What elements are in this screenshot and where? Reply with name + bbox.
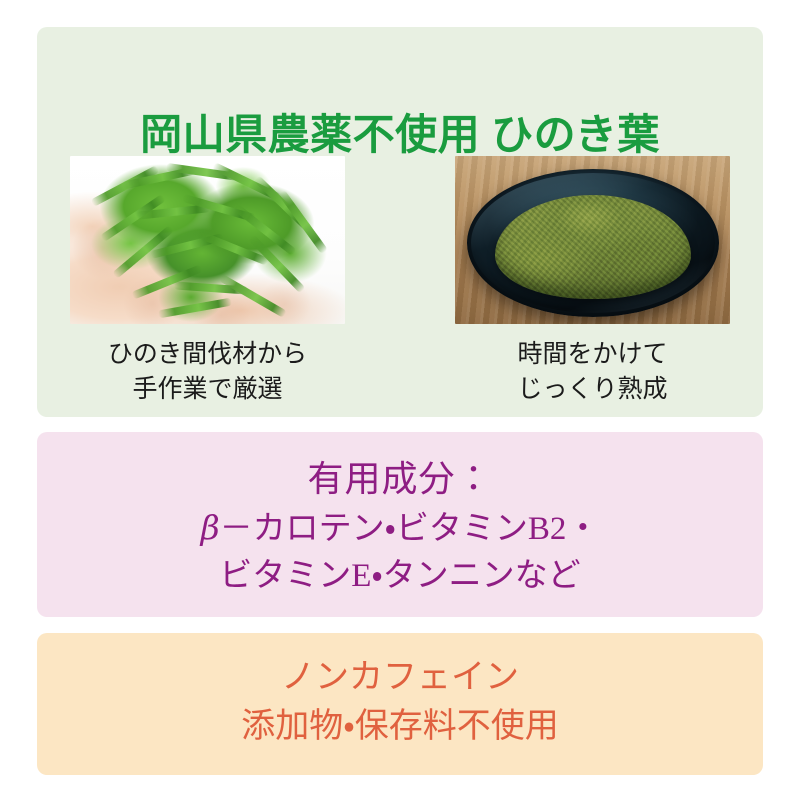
nutrients-text-block: 有用成分： β－カロテン・ビタミンB2・ ビタミンE・タンニンなど	[37, 454, 763, 600]
beta-symbol: β	[201, 508, 220, 547]
photo-cell-paste: 時間をかけて じっくり熟成	[455, 156, 730, 407]
aged-hinoki-paste-in-bowl-image	[455, 156, 730, 324]
panel-origin: 岡山県農薬不使用 ひのき葉	[37, 27, 763, 417]
nutrients-line-1-rest: －カロテン・ビタミンB2・	[220, 511, 600, 547]
free-from-text: ノンカフェイン 添加物・保存料不使用	[37, 653, 763, 752]
photo-cell-leaves: ひのき間伐材から 手作業で厳選	[70, 156, 345, 407]
photo-row: ひのき間伐材から 手作業で厳選 時間をかけて じっくり熟成	[37, 140, 763, 423]
panel-free-from: ノンカフェイン 添加物・保存料不使用	[37, 633, 763, 775]
panel-nutrients: 有用成分： β－カロテン・ビタミンB2・ ビタミンE・タンニンなど	[37, 432, 763, 617]
product-info-graphic: 岡山県農薬不使用 ひのき葉	[0, 0, 800, 800]
foliage-sprays	[70, 156, 345, 324]
hinoki-leaves-in-hand-image	[70, 156, 345, 324]
photo-caption-leaves: ひのき間伐材から 手作業で厳選	[70, 338, 345, 407]
photo-caption-paste: 時間をかけて じっくり熟成	[455, 338, 730, 407]
nutrients-line-2: ビタミンE・タンニンなど	[37, 553, 763, 600]
nutrients-heading: 有用成分：	[37, 454, 763, 505]
nutrients-line-1: β－カロテン・ビタミンB2・	[37, 505, 763, 553]
